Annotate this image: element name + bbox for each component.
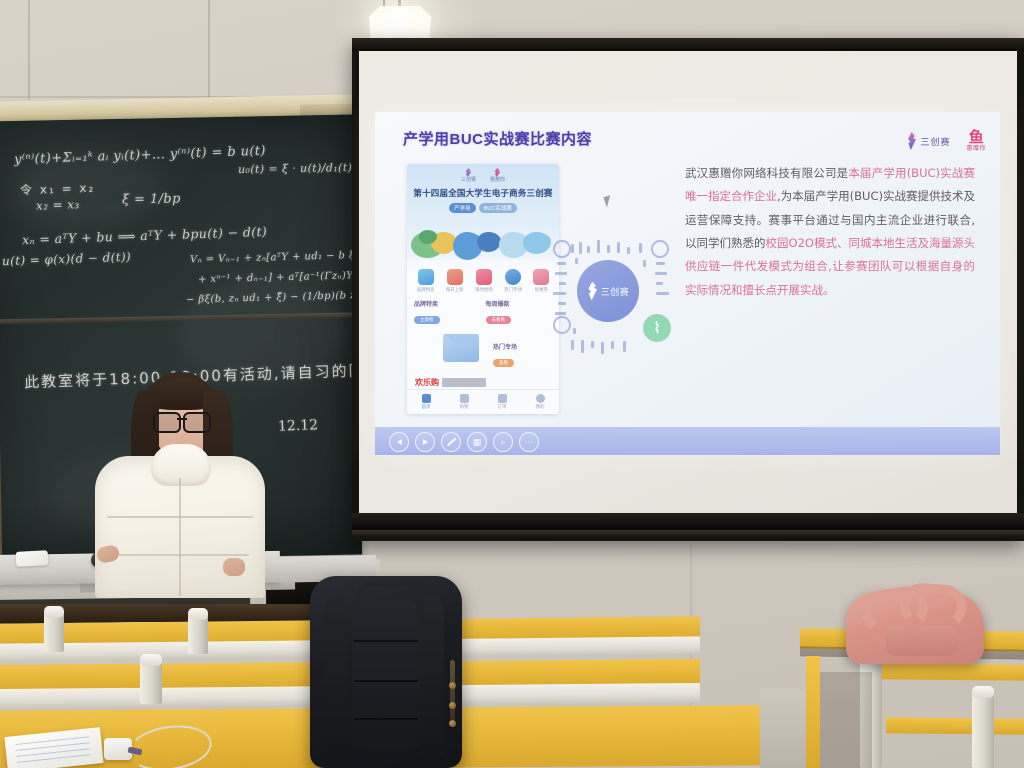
poster-nav-label: 我的 — [536, 404, 545, 410]
zoom-magnify-button[interactable]: ⌕ — [493, 432, 513, 452]
poster-card-title: 每周爆款 — [486, 299, 553, 308]
poster-brand-name: 欢乐购 — [415, 377, 439, 388]
bag-icon — [476, 269, 492, 285]
qr-center-label: 三创赛 — [601, 285, 630, 298]
desk-shelf-right — [886, 717, 1024, 734]
coupon-icon — [533, 269, 549, 285]
poster-tag: 产学用 — [449, 203, 476, 213]
poster-logo-label: 三创赛 — [461, 177, 476, 183]
sanchuangsai-logo-text: 三创赛 — [920, 135, 950, 148]
poster-card-title: 热门专场 — [493, 342, 517, 351]
more-options-button[interactable]: ⋯ — [519, 432, 539, 452]
home-icon — [422, 394, 431, 403]
miniprogram-glyph: ⌇ — [653, 321, 660, 336]
phone-on-podium — [16, 550, 49, 567]
poster-tag: BUC实战赛 — [479, 203, 517, 213]
pen-icon — [446, 438, 455, 447]
backpack-strap — [899, 582, 968, 630]
right-hand — [223, 558, 245, 576]
torch-icon — [587, 282, 599, 301]
wall-panel-seam — [208, 0, 210, 98]
padding-seam — [354, 680, 418, 682]
wechat-miniprogram-qr-code: 三创赛 ⌇ — [551, 238, 671, 358]
huizengni-logo: 鱼 惠赠你 — [966, 130, 986, 152]
poster-logo-label: 惠赠你 — [490, 177, 505, 183]
backpack-strap-right — [420, 596, 444, 762]
poster-brand-block: 欢乐购 — [415, 377, 486, 388]
poster-nav-label: 订单 — [498, 404, 507, 410]
pen-annotate-button[interactable] — [441, 432, 461, 452]
desk-post-cap — [972, 686, 994, 698]
poster-nav-item: 我的 — [536, 394, 545, 410]
jacket-collar — [151, 444, 211, 486]
grid-icon: ▦ — [473, 437, 482, 448]
black-backpack — [310, 576, 462, 768]
poster-card: 热门专场 查看 — [493, 342, 517, 369]
backpack-pocket — [886, 626, 958, 656]
app-poster-screenshot: 三创赛 惠赠你 第十四届全国大学生电子商务三创赛 产学用 BUC实战赛 — [407, 164, 559, 414]
lens-right — [183, 412, 211, 433]
desk-shelf-right — [880, 663, 1024, 681]
charm-bead — [449, 720, 456, 727]
screen-bottom-bar — [352, 513, 1024, 530]
qr-center-logo: 三创赛 — [577, 260, 639, 322]
poster-card: 品牌特卖 立即抢 — [414, 299, 481, 326]
charm-bead — [449, 702, 456, 709]
fish-mark-icon: 鱼 — [966, 130, 986, 145]
poster-nav-label: 购物 — [460, 404, 469, 410]
huizengni-logo-text: 惠赠你 — [966, 146, 986, 152]
screen-bottom-lip — [352, 530, 1024, 537]
screenshot-root: y⁽ⁿ⁾(t)+Σᵢ₌₁ᵏ aᵢ yᵢ(t)+… y⁽ⁿ⁾(t) = b u(t… — [0, 0, 1024, 768]
poster-banner: 三创赛 惠赠你 第十四届全国大学生电子商务三创赛 产学用 BUC实战赛 — [407, 164, 559, 260]
poster-nav-item: 订单 — [498, 394, 507, 410]
fish-icon — [494, 168, 502, 177]
poster-middle-section: 热门专场 查看 — [407, 328, 559, 384]
poster-category: 品牌特卖 — [417, 269, 435, 293]
poster-category-label: 热门专场 — [504, 287, 522, 293]
padding-seam — [354, 718, 418, 720]
padding-seam — [354, 640, 418, 642]
poster-card-pill: 查看 — [493, 359, 514, 367]
desk-post-cap — [188, 608, 208, 620]
slide-title: 产学用BUC实战赛比赛内容 — [403, 128, 592, 149]
order-icon — [498, 394, 507, 403]
slide-logo-group: 三创赛 鱼 惠赠你 — [906, 130, 986, 152]
glasses-bridge — [177, 418, 187, 420]
poster-brand-bar — [442, 378, 486, 387]
jacket-zipper — [179, 478, 181, 596]
backpack-charm — [450, 660, 455, 722]
poster-logo-sanchuangsai: 三创赛 — [461, 168, 476, 184]
poster-card-row: 品牌特卖 立即抢 每周爆款 去看看 — [407, 297, 559, 328]
cart-icon — [460, 394, 469, 403]
charm-bead — [449, 682, 456, 689]
poster-illustration — [407, 216, 559, 260]
lens-left — [153, 412, 181, 433]
desk-recess-right — [820, 672, 872, 768]
gift-icon — [447, 269, 463, 285]
slide-grid-button[interactable]: ▦ — [467, 432, 487, 452]
poster-nav-item: 首页 — [422, 394, 431, 410]
envelope-flap-icon — [443, 334, 479, 347]
student-presenter — [95, 368, 265, 598]
poster-card-pill: 立即抢 — [414, 316, 440, 324]
backpack-strap-left — [324, 596, 348, 762]
ellipsis-icon: ⋯ — [525, 437, 534, 448]
desk-post-cap — [140, 654, 162, 666]
slide-body-text: 武汉惠赠你网络科技有限公司是本届产学用(BUC)实战赛唯一指定合作企业,为本届产… — [685, 162, 975, 302]
poster-category: 优惠券 — [533, 269, 549, 293]
chevron-right-icon — [423, 439, 428, 445]
poster-category-label: 品牌特卖 — [417, 287, 435, 293]
previous-slide-button[interactable] — [389, 432, 409, 452]
person-icon — [536, 394, 545, 403]
poster-logo-huizengni: 惠赠你 — [490, 168, 505, 184]
poster-category: 热门专场 — [504, 269, 522, 293]
wall-panel-seam — [28, 0, 30, 100]
poster-category-label: 每日上新 — [446, 287, 464, 293]
backpack-back-padding — [352, 600, 420, 752]
poster-card-title: 品牌特卖 — [414, 299, 481, 308]
presentation-toolbar: ▦ ⌕ ⋯ — [375, 427, 1000, 455]
pink-backpack — [846, 592, 984, 664]
torch-icon — [464, 168, 472, 177]
poster-card-pill: 去看看 — [486, 316, 512, 324]
poster-banner-title: 第十四届全国大学生电子商务三创赛 — [407, 187, 559, 199]
desk-leg-right — [806, 656, 820, 768]
poster-category-label: 优惠券 — [533, 287, 549, 293]
poster-nav-item: 购物 — [460, 394, 469, 410]
sanchuangsai-logo: 三创赛 — [906, 132, 950, 150]
globe-icon — [505, 269, 521, 285]
poster-category-label: 限时抢购 — [475, 287, 493, 293]
poster-category: 每日上新 — [446, 269, 464, 293]
poster-card: 每周爆款 去看看 — [486, 299, 553, 326]
poster-nav-label: 首页 — [422, 404, 431, 410]
backpack-handle — [358, 582, 424, 602]
desk-post-cap — [44, 606, 64, 618]
eyeglasses — [153, 412, 211, 429]
bike-icon — [418, 269, 434, 285]
next-slide-button[interactable] — [415, 432, 435, 452]
poster-bottom-nav: 首页 购物 订单 我的 — [407, 389, 559, 414]
poster-banner-logos: 三创赛 惠赠你 — [407, 164, 559, 184]
wechat-miniprogram-badge-icon: ⌇ — [643, 314, 671, 342]
screen-top-bar — [352, 38, 1024, 51]
notebook-lines — [15, 736, 91, 764]
magnifier-icon: ⌕ — [500, 437, 505, 448]
presentation-slide[interactable]: 产学用BUC实战赛比赛内容 三创赛 鱼 惠赠你 三创赛 — [375, 112, 1000, 455]
desk-post-right — [972, 690, 994, 768]
chevron-left-icon — [397, 439, 402, 445]
slide-body-segment-1: 武汉惠赠你网络科技有限公司是 — [685, 166, 848, 180]
poster-category: 限时抢购 — [475, 269, 493, 293]
poster-banner-tags: 产学用 BUC实战赛 — [407, 203, 559, 213]
poster-category-row: 品牌特卖 每日上新 限时抢购 热门专场 优惠券 — [407, 260, 559, 297]
torch-icon — [906, 132, 917, 150]
